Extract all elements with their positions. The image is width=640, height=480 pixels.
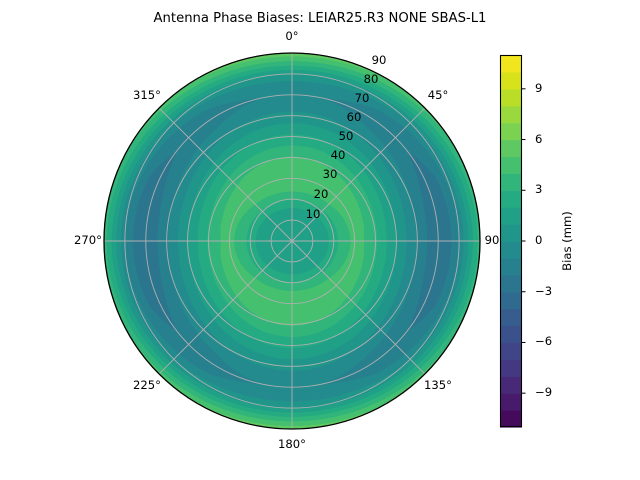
polar-heatmap-canvas: [0, 0, 640, 480]
polar-chart-figure: Antenna Phase Biases: LEIAR25.R3 NONE SB…: [0, 0, 640, 480]
